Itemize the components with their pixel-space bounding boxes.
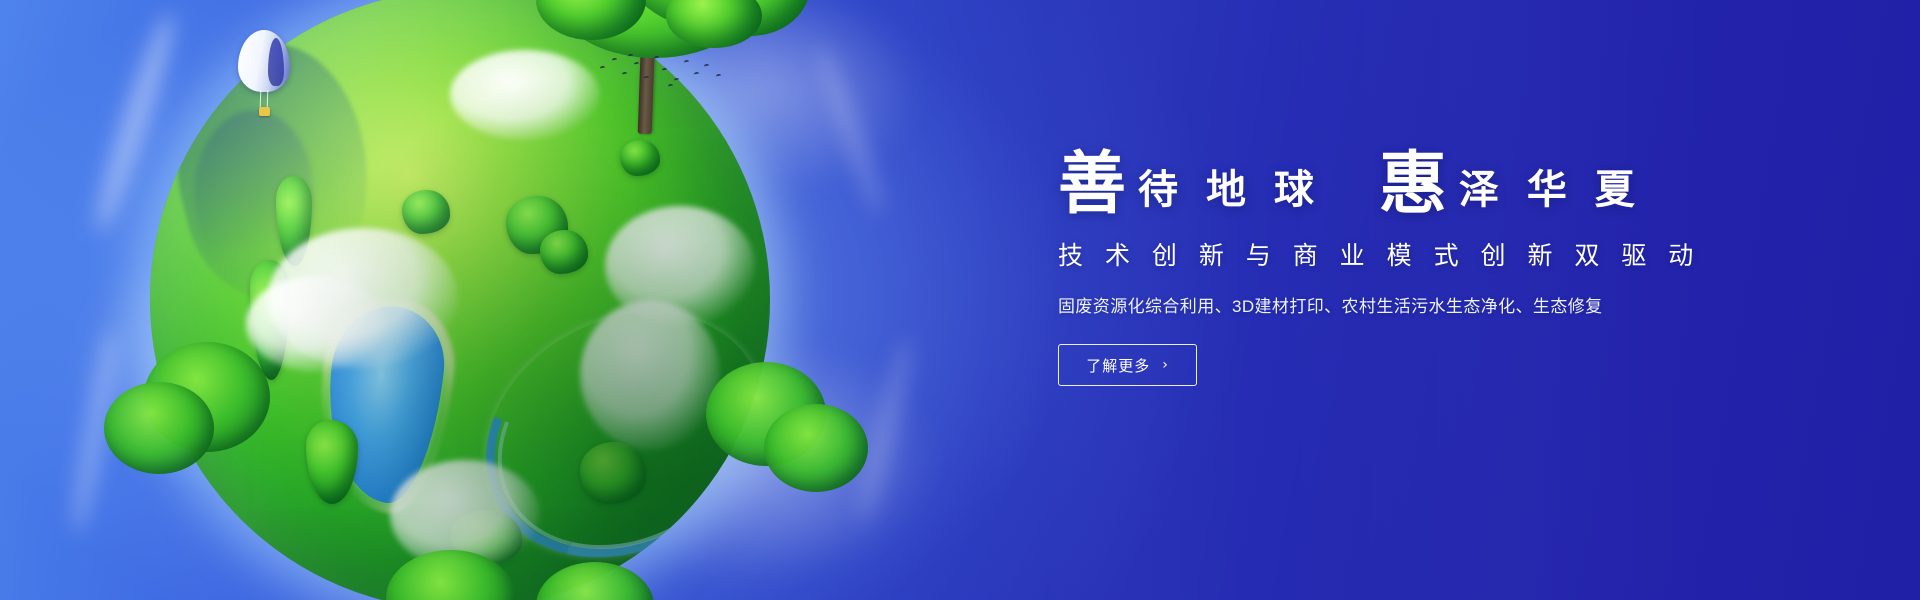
balloon-ropes <box>260 90 269 108</box>
bush <box>580 442 646 504</box>
bush <box>306 420 358 504</box>
tree-canopy <box>550 0 760 58</box>
cloud-puff <box>390 460 540 570</box>
bird-icon <box>628 54 634 58</box>
tree-canopy <box>620 0 810 30</box>
cloud-streak <box>66 326 124 537</box>
learn-more-button[interactable]: 了解更多 › <box>1058 344 1197 386</box>
bush <box>402 190 450 234</box>
headline-char-primary-1: 善 <box>1058 150 1126 218</box>
river <box>443 265 770 600</box>
bird-icon <box>634 62 640 66</box>
bird-icon <box>662 68 668 72</box>
limb-tree <box>144 342 270 452</box>
learn-more-label: 了解更多 <box>1086 355 1150 376</box>
lake-shore <box>309 292 461 518</box>
cloud-puff <box>246 276 386 372</box>
tree-canopy <box>536 0 646 40</box>
bird-icon <box>654 56 660 60</box>
lake <box>318 301 450 508</box>
bird-icon <box>704 64 710 68</box>
cloud-puff <box>268 228 458 368</box>
bush <box>250 260 290 380</box>
bird-icon <box>684 60 690 64</box>
bush <box>620 140 660 176</box>
bush <box>276 176 312 266</box>
chevron-right-icon: › <box>1162 358 1169 372</box>
description: 固废资源化综合利用、3D建材打印、农村生活污水生态净化、生态修复 <box>1058 292 1758 317</box>
cloud-puff <box>605 206 755 326</box>
bush <box>506 196 568 254</box>
balloon-basket <box>259 107 270 116</box>
mountain-ridge <box>194 110 314 280</box>
tree-canopy <box>666 0 762 48</box>
cloud-streak <box>87 10 183 237</box>
hero-banner: 善 待 地 球 惠 泽 华 夏 技 术 创 新 与 商 业 模 式 创 新 双 … <box>0 0 1920 600</box>
cloud-streak <box>851 336 918 526</box>
bird-icon <box>668 84 674 88</box>
headline-char-primary-2: 惠 <box>1379 150 1447 218</box>
headline-rest-1: 待 地 球 <box>1126 170 1321 210</box>
bird-icon <box>622 72 628 76</box>
limb-tree <box>764 404 868 492</box>
limb-tree <box>104 382 214 474</box>
bush <box>540 230 588 274</box>
bird-icon <box>644 76 650 80</box>
cloud-puff <box>580 300 720 450</box>
river-highlight <box>458 281 770 592</box>
cloud-wash <box>60 0 940 600</box>
headline-rest-2: 泽 华 夏 <box>1447 170 1642 210</box>
bird-icon <box>694 72 700 76</box>
limb-tree <box>536 562 654 600</box>
bush <box>450 510 522 566</box>
bird-icon <box>674 78 680 82</box>
banner-content: 善 待 地 球 惠 泽 华 夏 技 术 创 新 与 商 业 模 式 创 新 双 … <box>1058 128 1758 386</box>
hot-air-balloon-icon <box>238 30 290 122</box>
limb-tree <box>386 550 516 600</box>
tree-canopy <box>690 0 810 36</box>
subtitle: 技 术 创 新 与 商 业 模 式 创 新 双 驱 动 <box>1058 236 1758 272</box>
bird-icon <box>600 66 606 70</box>
bird-icon <box>716 74 722 78</box>
bird-icon <box>612 58 618 62</box>
headline: 善 待 地 球 惠 泽 华 夏 <box>1058 128 1758 214</box>
cloud-streak <box>810 42 890 218</box>
cloud-puff <box>450 50 600 140</box>
balloon-envelope <box>238 30 290 92</box>
bird-flock-icon <box>598 52 728 88</box>
limb-tree <box>706 362 826 466</box>
